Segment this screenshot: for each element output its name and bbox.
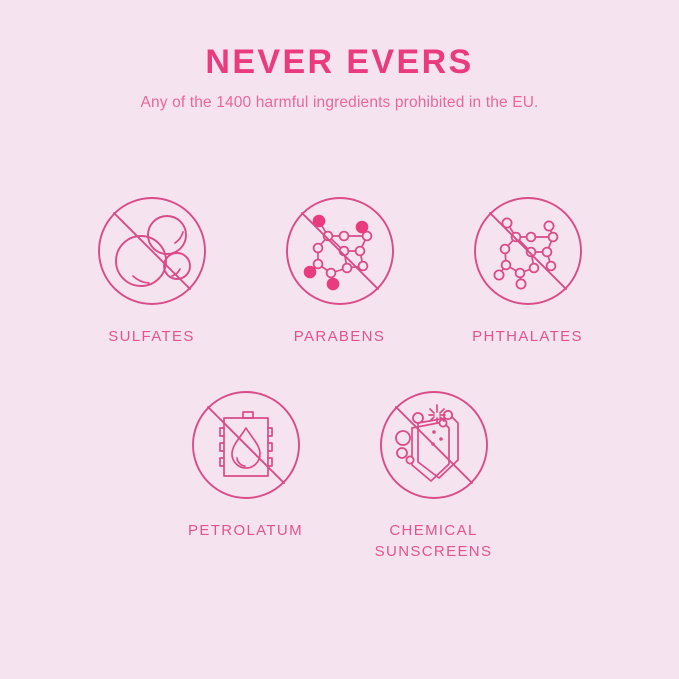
never-evers-infographic: NEVER EVERS Any of the 1400 harmful ingr…	[0, 0, 679, 679]
page-subtitle: Any of the 1400 harmful ingredients proh…	[0, 93, 679, 113]
grid-row-2: PETROLATUM	[0, 390, 679, 562]
grid-item-label: PARABENS	[294, 326, 385, 347]
header: NEVER EVERS Any of the 1400 harmful ingr…	[0, 42, 679, 113]
ingredient-grid: SULFATES	[0, 196, 679, 562]
grid-item-label: PHTHALATES	[472, 326, 583, 347]
grid-item-chemical-sunscreens: CHEMICAL SUNSCREENS	[370, 390, 498, 562]
grid-item-sulfates: SULFATES	[88, 196, 216, 347]
no-petrolatum-barrel-icon	[191, 390, 301, 500]
page-title: NEVER EVERS	[0, 42, 679, 82]
grid-item-parabens: PARABENS	[276, 196, 404, 347]
no-phthalates-molecule-icon	[473, 196, 583, 306]
no-parabens-molecule-icon	[285, 196, 395, 306]
grid-item-label: CHEMICAL SUNSCREENS	[375, 520, 493, 562]
grid-row-1: SULFATES	[0, 196, 679, 347]
grid-item-phthalates: PHTHALATES	[464, 196, 592, 347]
grid-item-label: PETROLATUM	[188, 520, 303, 541]
no-chemical-sunscreens-shield-icon	[379, 390, 489, 500]
grid-item-petrolatum: PETROLATUM	[182, 390, 310, 541]
no-sulfates-bubbles-icon	[97, 196, 207, 306]
grid-item-label: SULFATES	[108, 326, 194, 347]
